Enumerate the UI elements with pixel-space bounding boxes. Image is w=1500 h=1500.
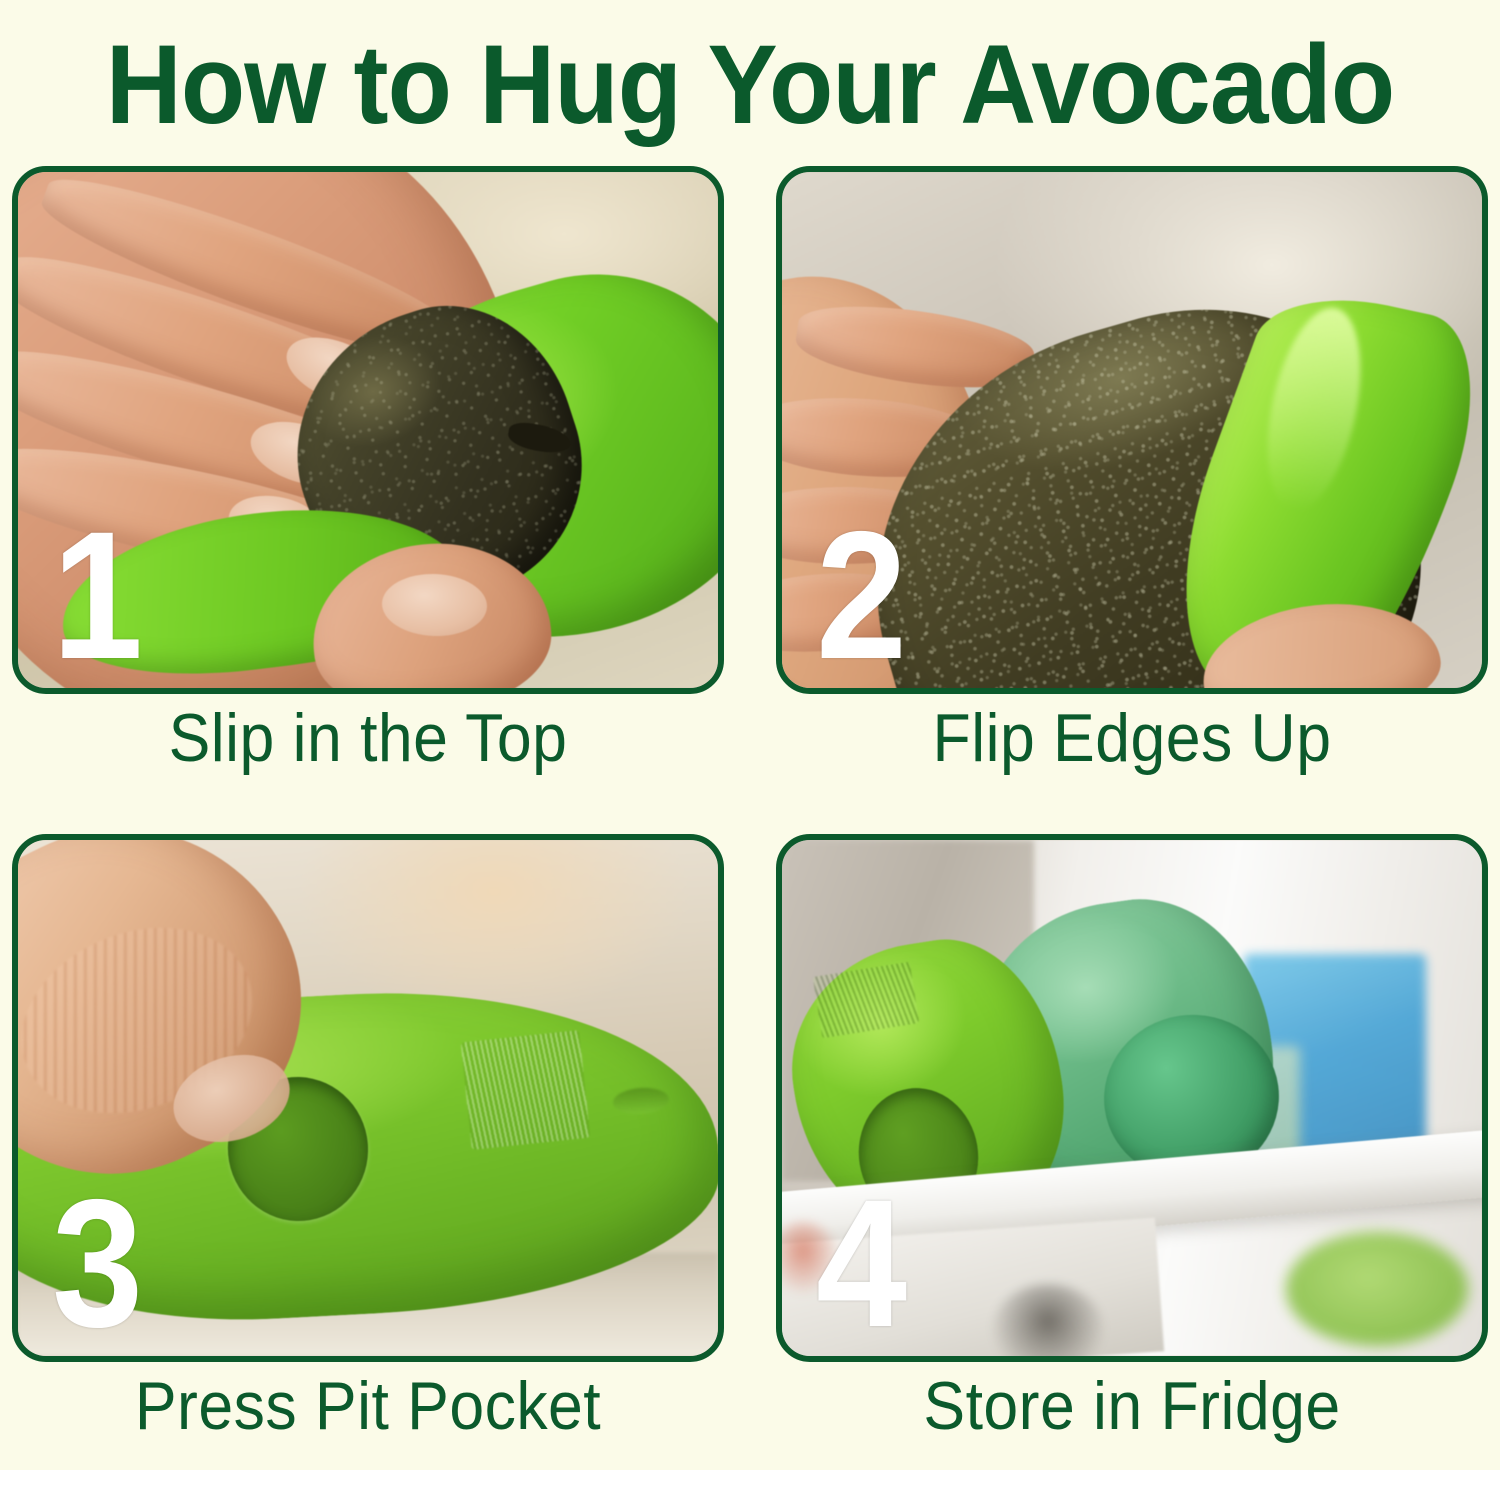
bottom-white-strip	[0, 1470, 1500, 1500]
step-number-2: 2	[816, 520, 907, 670]
step-caption-3: Press Pit Pocket	[40, 1368, 695, 1444]
page-title: How to Hug Your Avocado	[45, 26, 1455, 144]
step-card-4: 4 Store in Fridge	[776, 834, 1488, 1432]
step-card-1: 1 Slip in the Top	[12, 166, 724, 764]
blurred-produce	[1286, 1232, 1468, 1346]
step-photo-2: 2	[776, 166, 1488, 694]
step-card-2: 2 Flip Edges Up	[776, 166, 1488, 764]
step-caption-2: Flip Edges Up	[804, 700, 1459, 776]
infographic-root: How to Hug Your Avocado	[0, 0, 1500, 1470]
step-photo-4: 4	[776, 834, 1488, 1362]
step-number-3: 3	[52, 1188, 143, 1338]
steps-grid: 1 Slip in the Top 2	[12, 166, 1488, 1456]
step-caption-4: Store in Fridge	[804, 1368, 1459, 1444]
brand-emboss	[461, 1030, 591, 1150]
step-number-4: 4	[816, 1188, 907, 1338]
step-photo-1: 1	[12, 166, 724, 694]
step-photo-3: 3	[12, 834, 724, 1362]
step-card-3: 3 Press Pit Pocket	[12, 834, 724, 1432]
step-caption-1: Slip in the Top	[40, 700, 695, 776]
step-number-1: 1	[52, 520, 143, 670]
